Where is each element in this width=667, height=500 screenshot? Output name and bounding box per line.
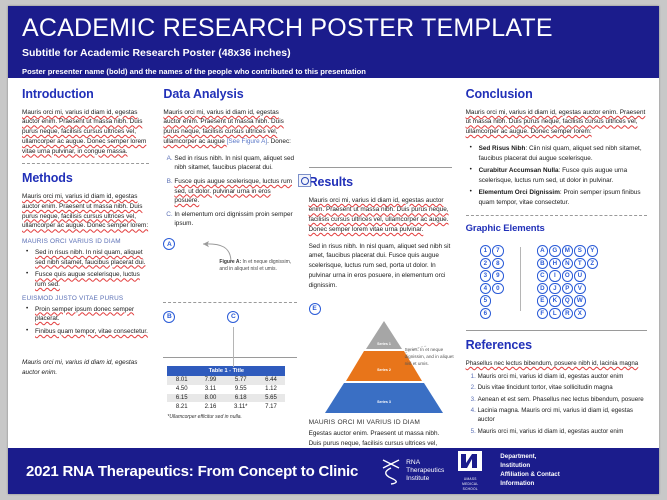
table-row: 8.21 2.16 3.11* 7.17: [167, 402, 285, 411]
conference-title: 2021 RNA Therapeutics: From Concept to C…: [26, 463, 358, 480]
circle-glyph: [301, 177, 309, 185]
table-cell: 8.21: [167, 402, 196, 411]
table-cell: 3.11: [196, 385, 225, 394]
list-item: Elementum Orci Dignissim: Proin semper i…: [475, 188, 647, 207]
chip-letter[interactable]: C: [537, 270, 549, 282]
umass-logo-line-2: MEDICAL: [458, 482, 482, 486]
chip-number[interactable]: 2: [480, 258, 492, 270]
table-footnote: *Ullamcorper efficitur sed in nulla.: [167, 414, 296, 420]
table-cell: 6.44: [257, 376, 286, 385]
methods-bullets-2: Proin semper ipsum donec semper placerat…: [22, 305, 149, 337]
marker-e[interactable]: E: [309, 303, 321, 315]
section-heading-data-analysis: Data Analysis: [163, 88, 296, 102]
table-cell: 8.01: [167, 376, 196, 385]
data-analysis-list: Sed in risus nibh. In nisl quam, aliquet…: [163, 154, 296, 229]
chip-letter[interactable]: Z: [587, 258, 599, 270]
umass-logo-line-3: SCHOOL: [458, 487, 482, 491]
section-heading-references: References: [466, 339, 647, 353]
chip-letter[interactable]: W: [574, 295, 586, 307]
umass-medical-school-logo: UMASS MEDICAL SCHOOL: [458, 451, 482, 491]
chip-number[interactable]: 6: [480, 308, 492, 320]
poster-canvas: ACADEMIC RESEARCH POSTER TEMPLATE Subtit…: [8, 6, 659, 494]
methods-subheading-1: MAURIS ORCI VARIUS ID DIAM: [22, 238, 149, 245]
table-cell: 2.16: [196, 402, 225, 411]
page-title: ACADEMIC RESEARCH POSTER TEMPLATE: [22, 15, 645, 41]
list-item: Sed Risus Nibh: Ciin nisl quam, aliquet …: [475, 144, 647, 163]
chip-letter[interactable]: N: [562, 258, 574, 270]
poster-footer: 2021 RNA Therapeutics: From Concept to C…: [8, 448, 659, 494]
methods-body: Mauris orci mi, varius id diam id, egest…: [22, 192, 149, 231]
list-item: Sed in risus nibh. In nisl quam, aliquet…: [174, 154, 296, 173]
graphic-elements-grid: 1 2 3 4 5 6 7 8 9 0: [466, 239, 647, 323]
pyramid-chart: Series 1 Series 2 Series 3 Series: In et…: [309, 319, 452, 415]
bullet-term: Sed Risus Nibh: [479, 145, 526, 152]
markers-b-c-row: B C: [163, 311, 296, 355]
column-conclusion-references: Conclusion Mauris orci mi, varius id dia…: [458, 88, 651, 437]
list-item: Fusce quis augue scelerisque, luctus rum…: [31, 270, 149, 289]
table-cell: 4.50: [167, 385, 196, 394]
poster-body: Introduction Mauris orci mi, varius id d…: [8, 78, 659, 437]
table-cell: 7.99: [196, 376, 225, 385]
chip-number[interactable]: 1: [480, 245, 492, 257]
chip-letter[interactable]: K: [549, 295, 561, 307]
list-item: Proin semper ipsum donec semper placerat…: [31, 305, 149, 324]
chip-letter[interactable]: B: [537, 258, 549, 270]
chip-letter[interactable]: L: [549, 308, 561, 320]
column-introduction-methods: Introduction Mauris orci mi, varius id d…: [16, 88, 157, 437]
list-item: Mauris orci mi, varius id diam id, egest…: [478, 372, 647, 381]
references-lead: Phasellus nec lectus bibendum, posuere n…: [466, 359, 647, 368]
rna-logo-line-3: Institute: [406, 475, 444, 483]
column-results: Results Mauris orci mi, varius id diam i…: [303, 88, 458, 437]
pyramid-annotation: Series: In et neque dignissim, and in al…: [405, 347, 461, 367]
divider: [466, 330, 647, 331]
table-cell: 3.11*: [225, 402, 257, 411]
chip-letter[interactable]: J: [549, 283, 561, 295]
conclusion-body: Mauris orci mi, varius id diam id, egest…: [466, 108, 647, 137]
chip-number[interactable]: 3: [480, 270, 492, 282]
number-chip-column: 7 8 9 0: [492, 245, 504, 319]
figure-a-block: A Figure A: In et neque dignissim, and i…: [163, 233, 296, 295]
table-cell: 7.17: [257, 402, 286, 411]
table-cell: 5.77: [225, 376, 257, 385]
rna-logo-line-1: RNA: [406, 459, 444, 467]
data-table: Table 1 - Title 8.01 7.99 5.77 6.44 4.50…: [167, 366, 285, 411]
poster-header: ACADEMIC RESEARCH POSTER TEMPLATE Subtit…: [8, 6, 659, 78]
number-chip-column: 1 2 3 4 5 6: [480, 245, 492, 319]
references-list: Mauris orci mi, varius id diam id, egest…: [466, 372, 647, 436]
poster-authors: Poster presenter name (bold) and the nam…: [22, 68, 645, 76]
list-item: Fusce quis augue scelerisque, luctus rum…: [174, 177, 296, 206]
pyramid-label-series-3: Series 3: [377, 400, 391, 404]
divider: [309, 167, 452, 168]
section-heading-conclusion: Conclusion: [466, 88, 647, 102]
poster-subtitle: Subtitle for Academic Research Poster (4…: [22, 48, 645, 60]
dna-helix-icon: [380, 457, 402, 485]
chip-letter[interactable]: F: [537, 308, 549, 320]
chip-number[interactable]: 8: [492, 258, 504, 270]
list-item: Finibus quam tempor, vitae consectetur.: [31, 327, 149, 337]
list-item: Lacinia magna. Mauris orci mi, varius id…: [478, 406, 647, 425]
divider: [22, 163, 149, 164]
letter-chip-column: S T U V W X: [574, 245, 586, 319]
umass-mark-icon: [458, 451, 482, 471]
results-figure-heading: MAURIS ORCI MI VARIUS ID DIAM: [309, 419, 452, 426]
list-item: In elementum orci dignissim proin semper…: [174, 210, 296, 229]
results-paragraph-1: Mauris orci mi, varius id diam id, egest…: [309, 196, 452, 235]
chip-letter[interactable]: D: [537, 283, 549, 295]
pyramid-tier-series-3: [325, 383, 443, 413]
chip-letter[interactable]: R: [562, 308, 574, 320]
list-item: Mauris orci mi, varius id diam id, egest…: [478, 427, 647, 436]
number-chips-group: 1 2 3 4 5 6 7 8 9 0: [480, 245, 504, 319]
table-cell: 6.15: [167, 394, 196, 403]
column-data-analysis: Data Analysis Mauris orci mi, varius id …: [157, 88, 302, 437]
table-row: 6.15 8.00 6.18 5.65: [167, 394, 285, 403]
bullet-term: Elementum Orci Dignissim: [479, 189, 560, 196]
list-item: Sed in risus nibh. In nisl quam, aliquet…: [31, 248, 149, 267]
letter-chip-column: G H I J K L: [549, 245, 561, 319]
chip-letter[interactable]: X: [574, 308, 586, 320]
divider: [466, 215, 647, 216]
rna-logo-line-2: Therapeutics: [406, 467, 444, 475]
table-cell: 6.18: [225, 394, 257, 403]
table-caption: Table 1 - Title: [167, 366, 285, 376]
chip-number[interactable]: 4: [480, 283, 492, 295]
introduction-body: Mauris orci mi, varius id diam id, egest…: [22, 108, 149, 157]
table-cell: 1.12: [257, 385, 286, 394]
chip-letter[interactable]: Q: [562, 295, 574, 307]
list-item: Aenean et est sem. Phasellus nec lectus …: [478, 395, 647, 404]
chip-letter[interactable]: E: [537, 295, 549, 307]
marker-a[interactable]: A: [163, 238, 175, 250]
letter-chip-column: M N O P Q R: [562, 245, 574, 319]
section-heading-methods: Methods: [22, 172, 149, 186]
department-contact-info: Department, Institution Affiliation & Co…: [500, 453, 559, 489]
letter-chip-column: A B C D E F: [537, 245, 549, 319]
pyramid-chart-svg: Series 1 Series 2 Series 3: [309, 319, 459, 415]
marker-c[interactable]: C: [227, 311, 239, 323]
section-heading-introduction: Introduction: [22, 88, 149, 102]
chip-letter[interactable]: I: [549, 270, 561, 282]
chip-number[interactable]: 5: [480, 295, 492, 307]
methods-caption: Mauris orci mi, varius id diam id, egest…: [22, 358, 149, 377]
table-cell: 9.55: [225, 385, 257, 394]
rna-logo-text: RNA Therapeutics Institute: [406, 459, 444, 484]
table-row: 4.50 3.11 9.55 1.12: [167, 385, 285, 394]
chip-number[interactable]: 7: [492, 245, 504, 257]
pyramid-label-series-2: Series 2: [377, 368, 391, 372]
marker-b[interactable]: B: [163, 311, 175, 323]
chip-letter[interactable]: U: [574, 270, 586, 282]
figure-a-caption-label: Figure A:: [219, 259, 241, 265]
chip-letter[interactable]: O: [562, 270, 574, 282]
chip-letter[interactable]: P: [562, 283, 574, 295]
list-item: Curabitur Accumsan Nulla: Fusce quis aug…: [475, 166, 647, 185]
data-analysis-body: Mauris orci mi, varius id diam id, egest…: [163, 108, 296, 147]
list-item: Duis vitae tincidunt tortor, vitae solli…: [478, 383, 647, 392]
table-row: 8.01 7.99 5.77 6.44: [167, 376, 285, 385]
image-placeholder-icon[interactable]: [298, 174, 311, 187]
chip-letter[interactable]: S: [574, 245, 586, 257]
rna-therapeutics-institute-logo: RNA Therapeutics Institute: [380, 457, 444, 485]
divider: [163, 302, 296, 303]
results-paragraph-2: Sed in risus nibh. In nisl quam, aliquet…: [309, 242, 452, 291]
section-heading-results: Results: [309, 176, 452, 190]
vertical-divider: [233, 327, 234, 367]
chip-letter[interactable]: H: [549, 258, 561, 270]
chip-letter[interactable]: G: [549, 245, 561, 257]
pyramid-label-series-1: Series 1: [377, 342, 391, 346]
figure-a-caption: Figure A: In et neque dignissim, and in …: [219, 259, 297, 274]
umass-logo-line-1: UMASS: [458, 477, 482, 481]
section-heading-graphic-elements: Graphic Elements: [466, 224, 647, 234]
chip-number[interactable]: 0: [492, 283, 504, 295]
chip-letter[interactable]: A: [537, 245, 549, 257]
methods-subheading-2: EUISMOD JUSTO VITAE PURUS: [22, 295, 149, 302]
letter-chips-group: A B C D E F G H I J K L: [537, 245, 599, 319]
conclusion-bullets: Sed Risus Nibh: Ciin nisl quam, aliquet …: [466, 144, 647, 208]
chip-letter[interactable]: M: [562, 245, 574, 257]
methods-bullets-1: Sed in risus nibh. In nisl quam, aliquet…: [22, 248, 149, 289]
data-analysis-body-post: . Donec:: [267, 138, 291, 145]
divider: [163, 357, 296, 358]
chip-number[interactable]: 9: [492, 270, 504, 282]
chip-letter[interactable]: V: [574, 283, 586, 295]
bullet-term: Curabitur Accumsan Nulla: [479, 167, 559, 174]
chip-letter[interactable]: Y: [587, 245, 599, 257]
table-cell: 5.65: [257, 394, 286, 403]
table-cell: 8.00: [196, 394, 225, 403]
chip-letter[interactable]: T: [574, 258, 586, 270]
letter-chip-column: Y Z: [587, 245, 599, 319]
table-1-wrapper: Table 1 - Title 8.01 7.99 5.77 6.44 4.50…: [163, 366, 296, 420]
figure-a-reference-link[interactable]: [See Figure A]: [227, 138, 268, 145]
vertical-divider: [520, 247, 521, 311]
